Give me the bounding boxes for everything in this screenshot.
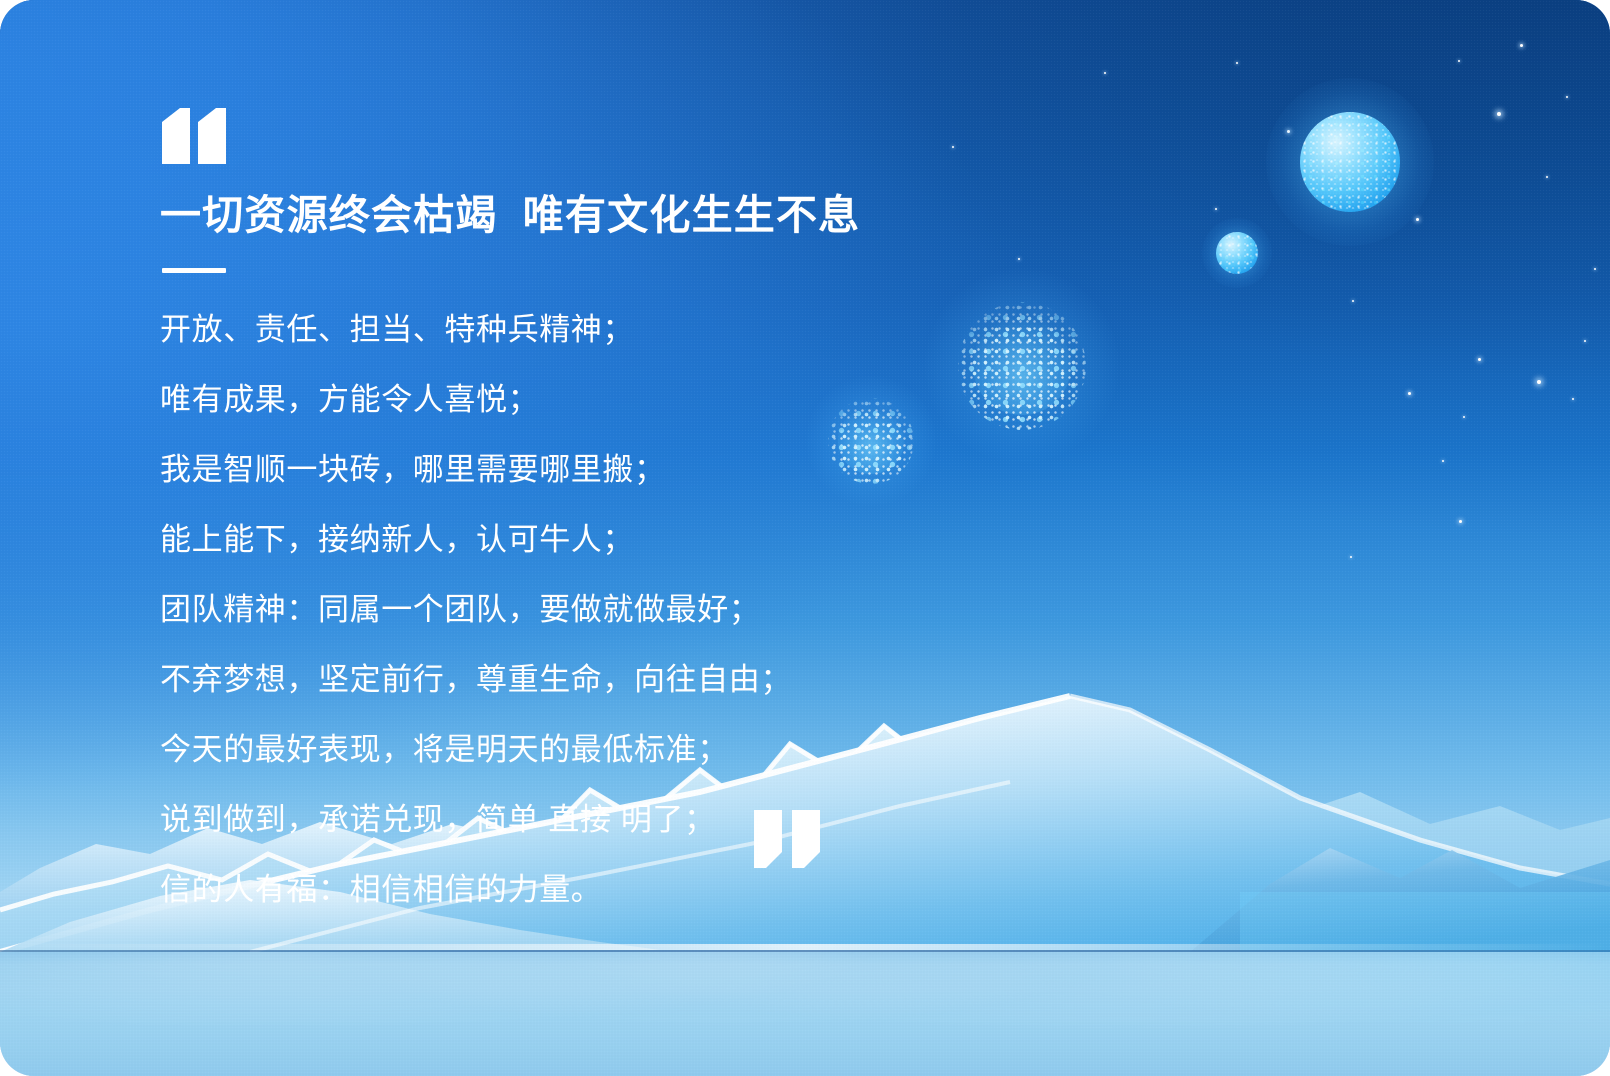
list-item: 团队精神：同属一个团队，要做就做最好； [160, 575, 1140, 645]
list-item: 能上能下，接纳新人，认可牛人； [160, 505, 1140, 575]
culture-values-banner: 一切资源终会枯竭 唯有文化生生不息 开放、责任、担当、特种兵精神； 唯有成果，方… [0, 0, 1610, 1076]
close-quote-icon [752, 810, 824, 868]
list-item: 不弃梦想，坚定前行，尊重生命，向往自由； [160, 645, 1140, 715]
divider-rule [162, 268, 226, 273]
quote-content: 一切资源终会枯竭 唯有文化生生不息 开放、责任、担当、特种兵精神； 唯有成果，方… [160, 108, 1140, 925]
list-item: 今天的最好表现，将是明天的最低标准； [160, 715, 1140, 785]
list-item: 唯有成果，方能令人喜悦； [160, 365, 1140, 435]
list-item: 信的人有福：相信相信的力量。 [160, 855, 1140, 925]
list-item: 说到做到，承诺兑现，简单 直接 明了； [160, 785, 1140, 855]
list-item: 开放、责任、担当、特种兵精神； [160, 295, 1140, 365]
list-item: 我是智顺一块砖，哪里需要哪里搬； [160, 435, 1140, 505]
open-quote-icon [160, 108, 230, 164]
page-title: 一切资源终会枯竭 唯有文化生生不息 [160, 190, 1140, 240]
values-list: 开放、责任、担当、特种兵精神； 唯有成果，方能令人喜悦； 我是智顺一块砖，哪里需… [160, 295, 1140, 925]
